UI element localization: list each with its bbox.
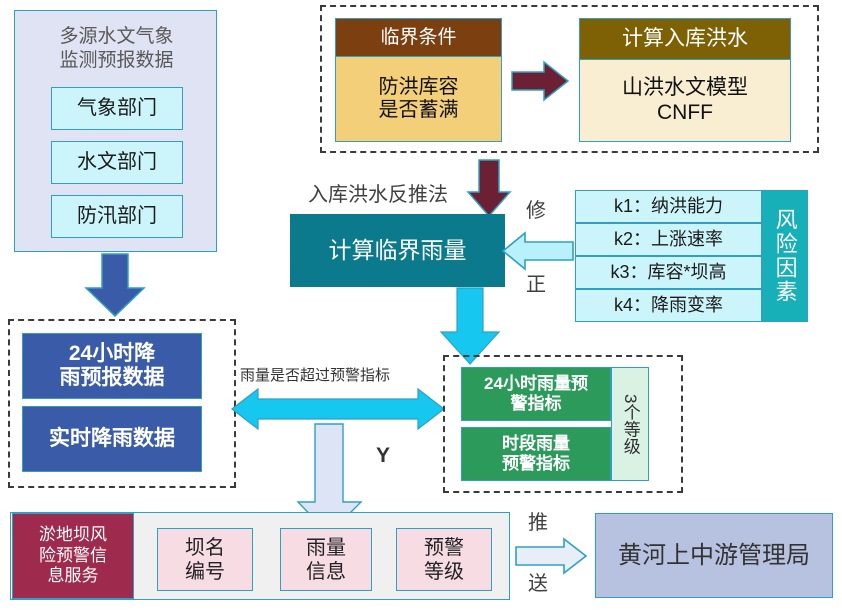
risk-factors-vertical-label: 风险因素	[762, 190, 808, 322]
inflow-flood-line-2: CNFF	[657, 101, 713, 125]
correction-label-top: 修	[522, 198, 550, 224]
arrow-source-to-rainfall-icon	[84, 254, 146, 318]
source-data-panel: 多源水文气象 监测预报数据 气象部门 水文部门 防汛部门	[14, 10, 217, 252]
inflow-method-label: 入库洪水反推法	[308, 178, 478, 204]
forecast-rainfall-line-1: 24小时降	[69, 342, 155, 366]
service-item-dam-name-line-2: 编号	[185, 560, 225, 584]
source-title-line-1: 多源水文气象	[59, 25, 173, 49]
warning-index-period-line-2: 预警指标	[502, 454, 570, 474]
push-label-top: 推	[524, 510, 552, 536]
service-item-warning-grade-line-2: 等级	[424, 560, 464, 584]
service-item-dam-name-line-1: 坝名	[185, 536, 225, 560]
service-title-line-3: 息服务	[48, 566, 99, 586]
realtime-rainfall-box: 实时降雨数据	[22, 406, 202, 472]
yellow-river-bureau-box: 黄河上中游管理局	[595, 513, 833, 598]
risk-factor-row-k4: k4：降雨变率	[575, 289, 762, 322]
comparison-question-label: 雨量是否超过预警指标	[240, 364, 440, 386]
push-label-bottom: 送	[524, 571, 552, 597]
critical-condition-header: 临界条件	[335, 18, 502, 57]
risk-factor-row-k2: k2：上涨速率	[575, 223, 762, 256]
warning-grade-label: 3个等级	[611, 367, 649, 481]
source-item-hydrology[interactable]: 水文部门	[51, 141, 183, 184]
source-panel-title: 多源水文气象 监测预报数据	[15, 21, 218, 77]
inflow-flood-header: 计算入库洪水	[579, 18, 791, 60]
service-item-rainfall-info[interactable]: 雨量 信息	[280, 528, 372, 591]
service-title-line-2: 险预警信	[39, 546, 107, 566]
warning-index-period-line-1: 时段雨量	[502, 434, 570, 454]
service-item-warning-grade[interactable]: 预警 等级	[396, 528, 492, 591]
forecast-rainfall-line-2: 雨预报数据	[60, 366, 165, 390]
warning-index-24h-line-1: 24小时雨量预	[484, 374, 588, 394]
arrow-push-right-icon	[516, 538, 588, 574]
warning-index-24h-box: 24小时雨量预 警指标	[461, 367, 611, 421]
service-item-rainfall-info-line-2: 信息	[306, 560, 346, 584]
critical-condition-line-2: 是否蓄满	[379, 99, 459, 122]
risk-factor-row-k1: k1：纳洪能力	[575, 190, 762, 223]
critical-condition-body: 防洪库容 是否蓄满	[335, 57, 502, 142]
service-title-box: 淤地坝风 险预警信 息服务	[12, 513, 134, 599]
source-item-meteorology[interactable]: 气象部门	[51, 87, 183, 130]
yes-branch-label: Y	[370, 443, 396, 469]
source-item-flood-control[interactable]: 防汛部门	[51, 195, 183, 238]
arrow-condition-to-model-icon	[512, 62, 570, 100]
compute-critical-rain-box: 计算临界雨量	[290, 214, 505, 287]
inflow-flood-body: 山洪水文模型 CNFF	[579, 60, 791, 142]
inflow-flood-line-1: 山洪水文模型	[622, 76, 748, 100]
service-item-rainfall-info-line-1: 雨量	[306, 536, 346, 560]
warning-index-24h-line-2: 警指标	[511, 394, 562, 414]
arrow-correction-left-icon	[503, 232, 575, 270]
service-item-dam-name[interactable]: 坝名 编号	[157, 528, 253, 591]
risk-factor-row-k3: k3：库容*坝高	[575, 256, 762, 289]
critical-condition-line-1: 防洪库容	[379, 76, 459, 99]
source-title-line-2: 监测预报数据	[59, 49, 173, 73]
service-title-line-1: 淤地坝风	[39, 525, 107, 545]
forecast-rainfall-box: 24小时降 雨预报数据	[22, 333, 202, 399]
arrow-inflow-to-critical-rain-icon	[466, 160, 512, 218]
flowchart-canvas: 多源水文气象 监测预报数据 气象部门 水文部门 防汛部门 临界条件 防洪库容 是…	[0, 0, 842, 610]
service-item-warning-grade-line-1: 预警	[424, 536, 464, 560]
correction-label-bottom: 正	[522, 272, 550, 298]
warning-index-period-box: 时段雨量 预警指标	[461, 427, 611, 481]
